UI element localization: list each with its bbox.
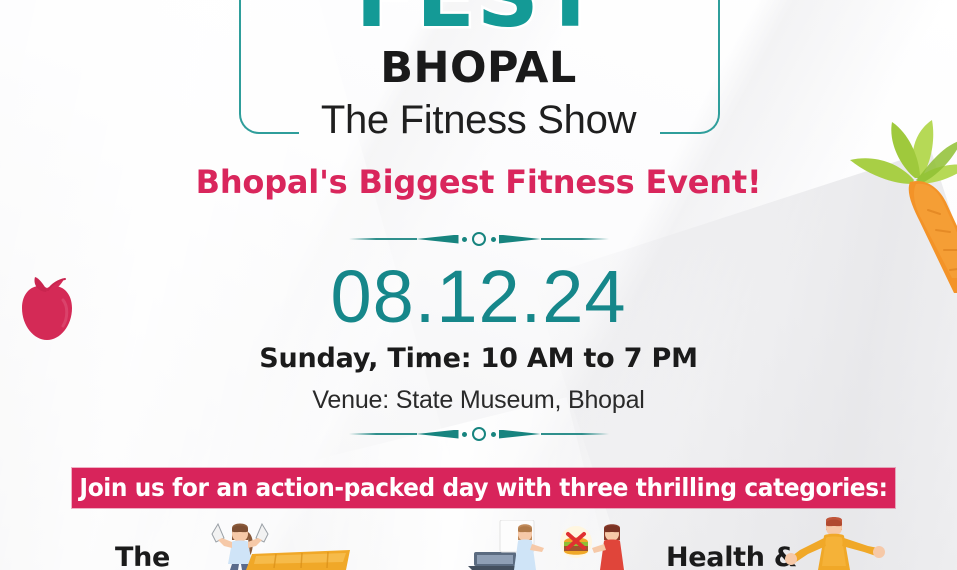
event-date: 08.12.24 (0, 258, 957, 336)
categories-banner-text: Join us for an action-packed day with th… (79, 474, 887, 502)
carrot-icon (836, 118, 957, 293)
divider-ornament-top (349, 228, 609, 250)
fest-headline: FEST (0, 0, 957, 40)
event-venue: Venue: State Museum, Bhopal (0, 385, 957, 415)
divider-rule-right (541, 433, 609, 435)
divider-wedge-right-icon (499, 430, 541, 439)
page-subtitle: The Fitness Show (0, 98, 957, 142)
event-day-time: Sunday, Time: 10 AM to 7 PM (0, 343, 957, 375)
divider-dot-left-icon (462, 432, 467, 437)
divider-rule-right (541, 238, 609, 240)
healthy-plate-illustration (246, 548, 356, 570)
divider-ring-icon (472, 427, 486, 441)
divider-ornament-bottom (349, 423, 609, 445)
categories-banner: Join us for an action-packed day with th… (72, 468, 895, 508)
divider-dot-left-icon (462, 237, 467, 242)
divider-ring-icon (472, 232, 486, 246)
event-poster: FEST BHOPAL The Fitness Show Bhopal's Bi… (0, 0, 957, 570)
divider-dot-right-icon (491, 237, 496, 242)
apple-icon (16, 272, 78, 342)
tagline: Bhopal's Biggest Fitness Event! (0, 163, 957, 201)
divider-wedge-right-icon (499, 235, 541, 244)
category-label-left: The (115, 543, 170, 570)
divider-rule-left (349, 433, 417, 435)
divider-dot-right-icon (491, 432, 496, 437)
city-name: BHOPAL (0, 46, 957, 91)
divider-wedge-left-icon (417, 430, 459, 439)
divider-wedge-left-icon (417, 235, 459, 244)
diet-choice-illustration (478, 520, 648, 570)
celebrating-man-illustration (776, 516, 886, 570)
divider-rule-left (349, 238, 417, 240)
